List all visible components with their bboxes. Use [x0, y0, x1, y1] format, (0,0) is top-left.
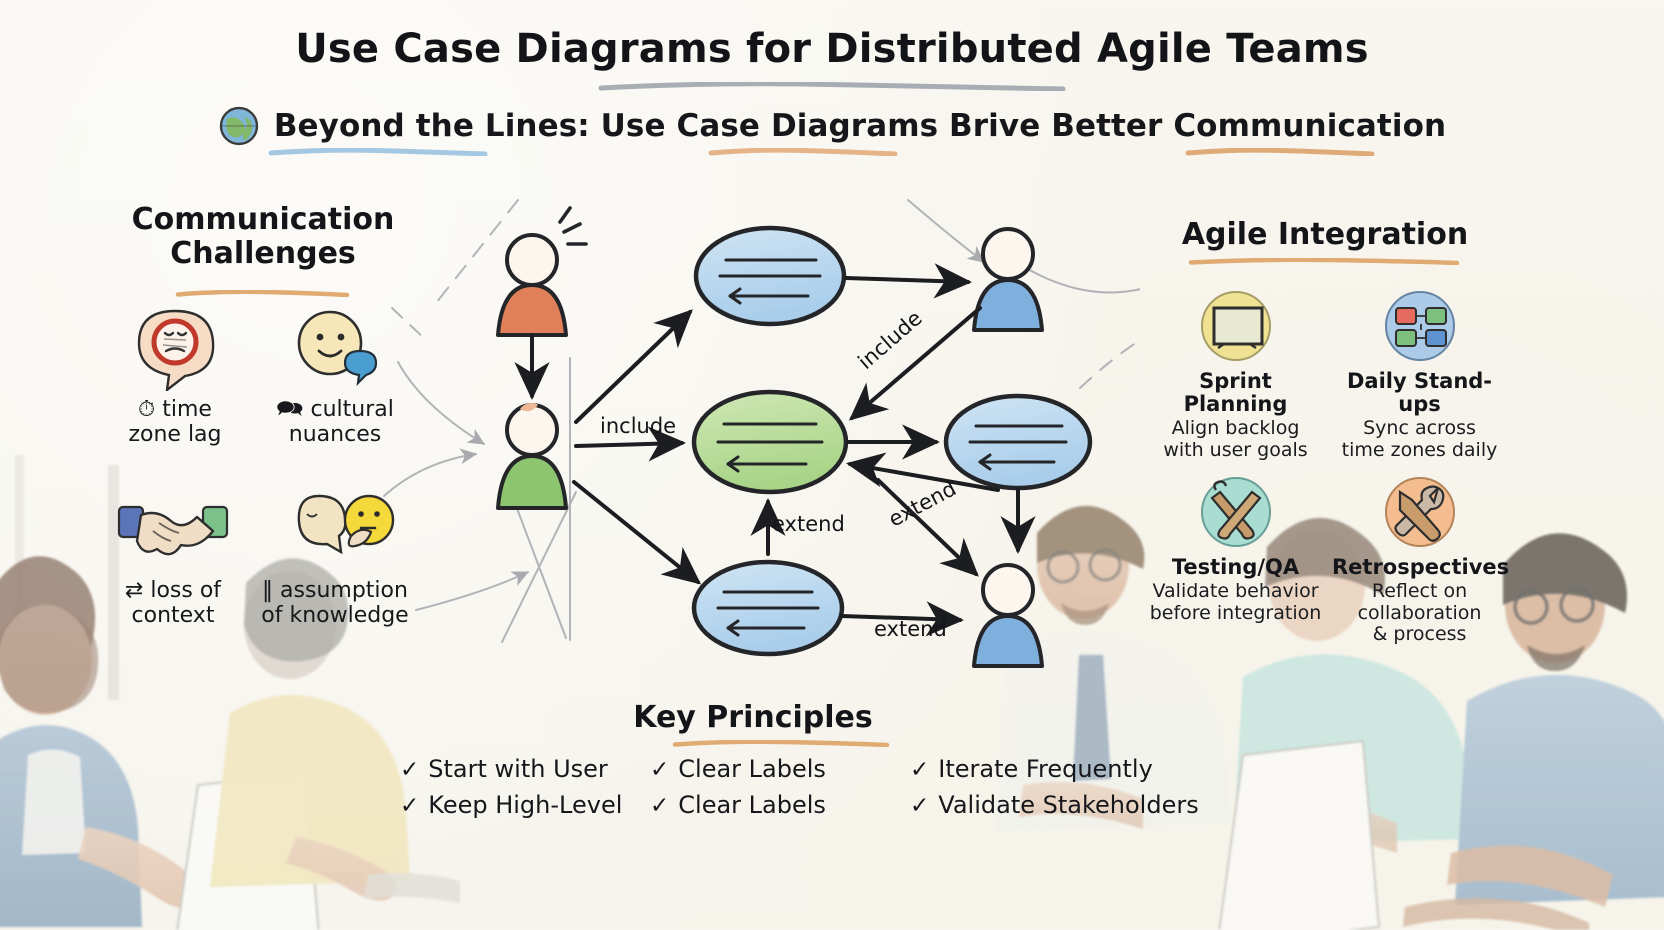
challenge-assumption-of-knowledge: ‖ assumption of knowledge — [240, 486, 430, 628]
challenge-glyph: ⇄ — [125, 578, 143, 603]
check-icon: ✓ — [650, 757, 669, 783]
agile-item-desc: Sync across time zones daily — [1332, 418, 1507, 461]
key-principles-heading: Key Principles — [608, 700, 898, 735]
communication-challenges-underline — [175, 290, 350, 297]
subtitle-underline-orange-1 — [708, 148, 898, 156]
page-title: Use Case Diagrams for Distributed Agile … — [0, 26, 1664, 72]
agile-icon-wrap — [1148, 284, 1323, 368]
relation-include-left: include — [600, 414, 676, 438]
edge-actor-to-uc-bottom — [574, 482, 698, 582]
challenge-icon-wrap — [240, 305, 430, 391]
challenge-glyph: ⏱ — [138, 397, 155, 422]
relation-extend-bottom: extend — [874, 617, 947, 641]
edge-actor-to-uc-top — [576, 312, 690, 422]
challenge-label-line1: loss of — [150, 578, 221, 603]
check-icon: ✓ — [910, 757, 929, 783]
agile-item-desc: Reflect on collaboration & process — [1332, 581, 1507, 646]
actor-tertiary — [974, 565, 1042, 666]
communication-challenges-heading: Communication Challenges — [118, 203, 408, 270]
kanban-board-icon — [1380, 286, 1460, 366]
use-case-right — [946, 396, 1090, 488]
key-principle-label: Clear Labels — [678, 791, 826, 819]
agile-item-desc: Validate behavior before integration — [1148, 581, 1323, 624]
agile-item-name: Testing/QA — [1148, 556, 1323, 579]
actor-alert — [498, 208, 586, 335]
subtitle-underline-orange-2 — [1185, 148, 1375, 156]
agile-desc-line2: collaboration — [1358, 602, 1482, 624]
agile-item-retrospectives: Retrospectives Reflect on collaboration … — [1332, 470, 1507, 646]
subtitle-underline-blue — [268, 148, 488, 156]
agile-desc-line1: Validate behavior — [1153, 580, 1319, 602]
infographic-canvas: Use Case Diagrams for Distributed Agile … — [0, 0, 1664, 928]
challenge-label-line1: assumption — [280, 578, 408, 603]
panel-heading-line2: Challenges — [118, 237, 408, 271]
hammer-and-wrench-icon — [1380, 472, 1460, 552]
whiteboard-icon — [1196, 286, 1276, 366]
crossed-tools-icon — [1196, 472, 1276, 552]
agile-desc-line2: with user goals — [1163, 439, 1307, 461]
panel-heading-line1: Communication — [118, 203, 408, 237]
challenge-caption: 🗪 cultural nuances — [240, 397, 430, 447]
agile-item-sprint-planning: Sprint Planning Align backlog with user … — [1148, 284, 1323, 462]
agile-item-desc: Align backlog with user goals — [1148, 418, 1323, 461]
use-case-diagram — [380, 190, 1140, 690]
agile-item-name: Daily Stand-ups — [1332, 370, 1507, 416]
agile-desc-line1: Reflect on — [1372, 580, 1467, 602]
title-underline — [597, 82, 1067, 91]
challenge-label-line2: nuances — [289, 422, 381, 447]
key-principle-item: ✓ Iterate Frequently — [910, 755, 1210, 783]
edge-actor-to-uc-center — [576, 443, 682, 446]
use-case-center — [694, 392, 846, 492]
use-case-bottom — [694, 562, 842, 654]
challenge-label-line2: zone lag — [128, 422, 221, 447]
agile-desc-line3: & process — [1373, 623, 1467, 645]
agile-desc-line2: time zones daily — [1342, 439, 1498, 461]
agile-integration-heading: Agile Integration — [1180, 218, 1470, 252]
agile-icon-wrap — [1332, 470, 1507, 554]
agile-item-name: Retrospectives — [1332, 556, 1507, 579]
actor-secondary — [974, 229, 1042, 330]
handshake-icon — [113, 493, 233, 565]
check-icon: ✓ — [910, 793, 929, 819]
speech-bubble-confused-face-icon — [130, 305, 220, 391]
challenge-label-line1: time — [162, 397, 212, 422]
key-principle-item: ✓ Keep High-Level — [400, 791, 650, 819]
speaking-head-thinking-face-icon — [273, 492, 397, 566]
challenge-label-line2: context — [132, 603, 215, 628]
globe-icon — [218, 105, 260, 147]
challenge-icon-wrap — [240, 486, 430, 572]
agile-desc-line1: Align backlog — [1172, 417, 1300, 439]
key-principle-item: ✓ Clear Labels — [650, 791, 910, 819]
challenge-caption: ‖ assumption of knowledge — [240, 578, 430, 628]
challenge-cultural-nuances: 🗪 cultural nuances — [240, 305, 430, 447]
agile-icon-wrap — [1332, 284, 1507, 368]
relation-extend-vertical: extend — [772, 512, 845, 536]
agile-item-name: Sprint Planning — [1148, 370, 1323, 416]
page-subtitle: Beyond the Lines: Use Case Diagrams Briv… — [274, 108, 1446, 144]
challenge-label-line2: of knowledge — [261, 603, 408, 628]
check-icon: ✓ — [650, 793, 669, 819]
key-principle-label: Clear Labels — [678, 755, 826, 783]
agile-desc-line2: before integration — [1150, 602, 1322, 624]
check-icon: ✓ — [400, 757, 419, 783]
challenge-glyph: 🗪 — [276, 397, 303, 422]
key-principle-label: Keep High-Level — [428, 791, 622, 819]
agile-desc-line1: Sync across — [1363, 417, 1476, 439]
agile-item-daily-standups: Daily Stand-ups Sync across time zones d… — [1332, 284, 1507, 462]
key-principle-label: Iterate Frequently — [938, 755, 1153, 783]
challenge-glyph: ‖ — [262, 578, 273, 603]
key-principle-item: ✓ Clear Labels — [650, 755, 910, 783]
check-icon: ✓ — [400, 793, 419, 819]
use-case-top — [696, 228, 844, 324]
edge-uc-top-to-actor — [846, 278, 968, 282]
subtitle-row: Beyond the Lines: Use Case Diagrams Briv… — [0, 105, 1664, 147]
key-principle-item: ✓ Start with User — [400, 755, 650, 783]
actor-primary — [498, 403, 566, 508]
challenge-label-line1: cultural — [311, 397, 394, 422]
key-principle-item: ✓ Validate Stakeholders — [910, 791, 1210, 819]
agile-icon-wrap — [1148, 470, 1323, 554]
agile-item-testing-qa: Testing/QA Validate behavior before inte… — [1148, 470, 1323, 624]
key-principle-label: Validate Stakeholders — [938, 791, 1198, 819]
key-principles-underline — [672, 740, 890, 747]
agile-integration-underline — [1188, 258, 1460, 265]
key-principle-label: Start with User — [428, 755, 608, 783]
smiling-face-with-speech-bubble-icon — [288, 305, 382, 391]
key-principles-list: ✓ Start with User ✓ Clear Labels ✓ Itera… — [400, 755, 1280, 819]
